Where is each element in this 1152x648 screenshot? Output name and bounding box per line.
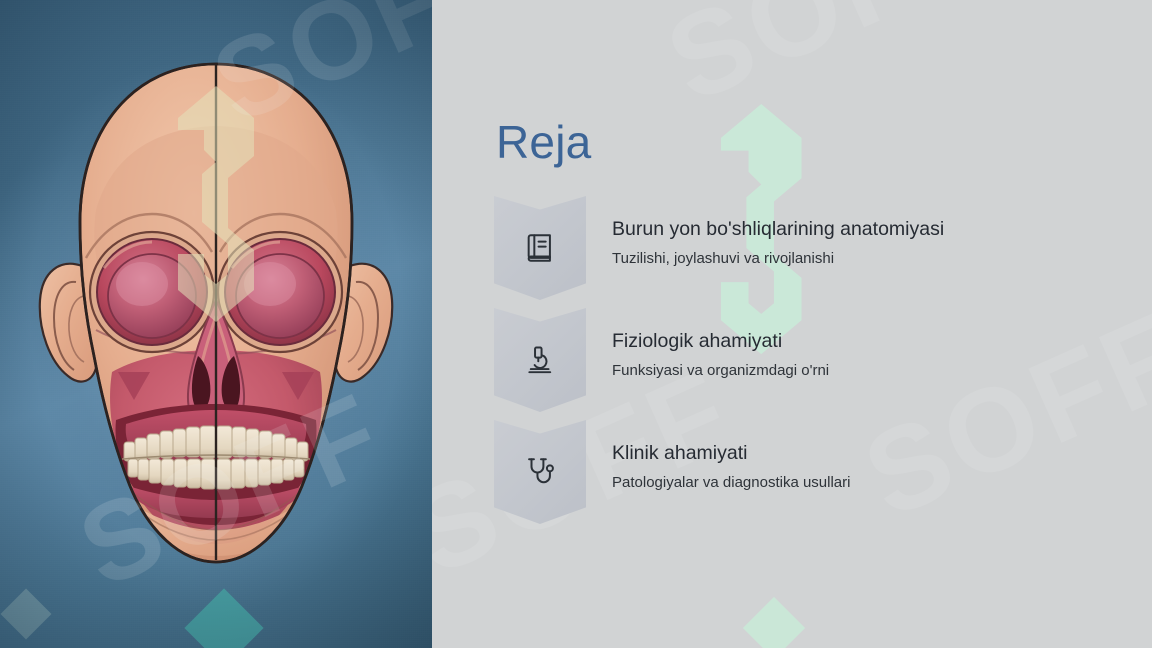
book-icon [523,231,557,265]
illustration-panel: SOFF SOFF [0,0,432,648]
agenda-item-text: Klinik ahamiyati Patologiyalar va diagno… [612,440,1112,494]
agenda-item-text: Burun yon bo'shliqlarining anatomiyasi T… [612,216,1112,270]
page-title: Reja [496,119,591,165]
agenda-item-subtitle: Patologiyalar va diagnostika usullari [612,472,1112,494]
svg-text:SOFF: SOFF [649,0,1008,128]
agenda-item-subtitle: Tuzilishi, joylashuvi va rivojlanishi [612,248,1112,270]
microscope-icon [523,343,557,377]
agenda-item-badge-2 [494,308,586,412]
agenda-item[interactable]: Klinik ahamiyati Patologiyalar va diagno… [494,420,1114,524]
stethoscope-icon [523,455,557,489]
agenda-item-badge-1 [494,196,586,300]
agenda-item-badge-3 [494,420,586,524]
slide-root: SOFF SOFF SOFF [0,0,1152,648]
agenda-item[interactable]: Fiziologik ahamiyati Funksiyasi va organ… [494,308,1114,412]
panel-vignette [0,0,432,648]
agenda-item-subtitle: Funksiyasi va organizmdagi o'rni [612,360,1112,382]
content-panel: SOFF SOFF SOFF Reja [432,0,1152,648]
agenda-item-text: Fiziologik ahamiyati Funksiyasi va organ… [612,328,1112,382]
agenda-item-title: Klinik ahamiyati [612,440,1112,466]
agenda-item-title: Fiziologik ahamiyati [612,328,1112,354]
agenda-item-title: Burun yon bo'shliqlarining anatomiyasi [612,216,1112,242]
agenda-item[interactable]: Burun yon bo'shliqlarining anatomiyasi T… [494,196,1114,300]
agenda-list: Burun yon bo'shliqlarining anatomiyasi T… [494,196,1114,532]
soff-watermark-text: SOFF [649,0,1008,128]
soff-logo-diamond [743,597,805,648]
